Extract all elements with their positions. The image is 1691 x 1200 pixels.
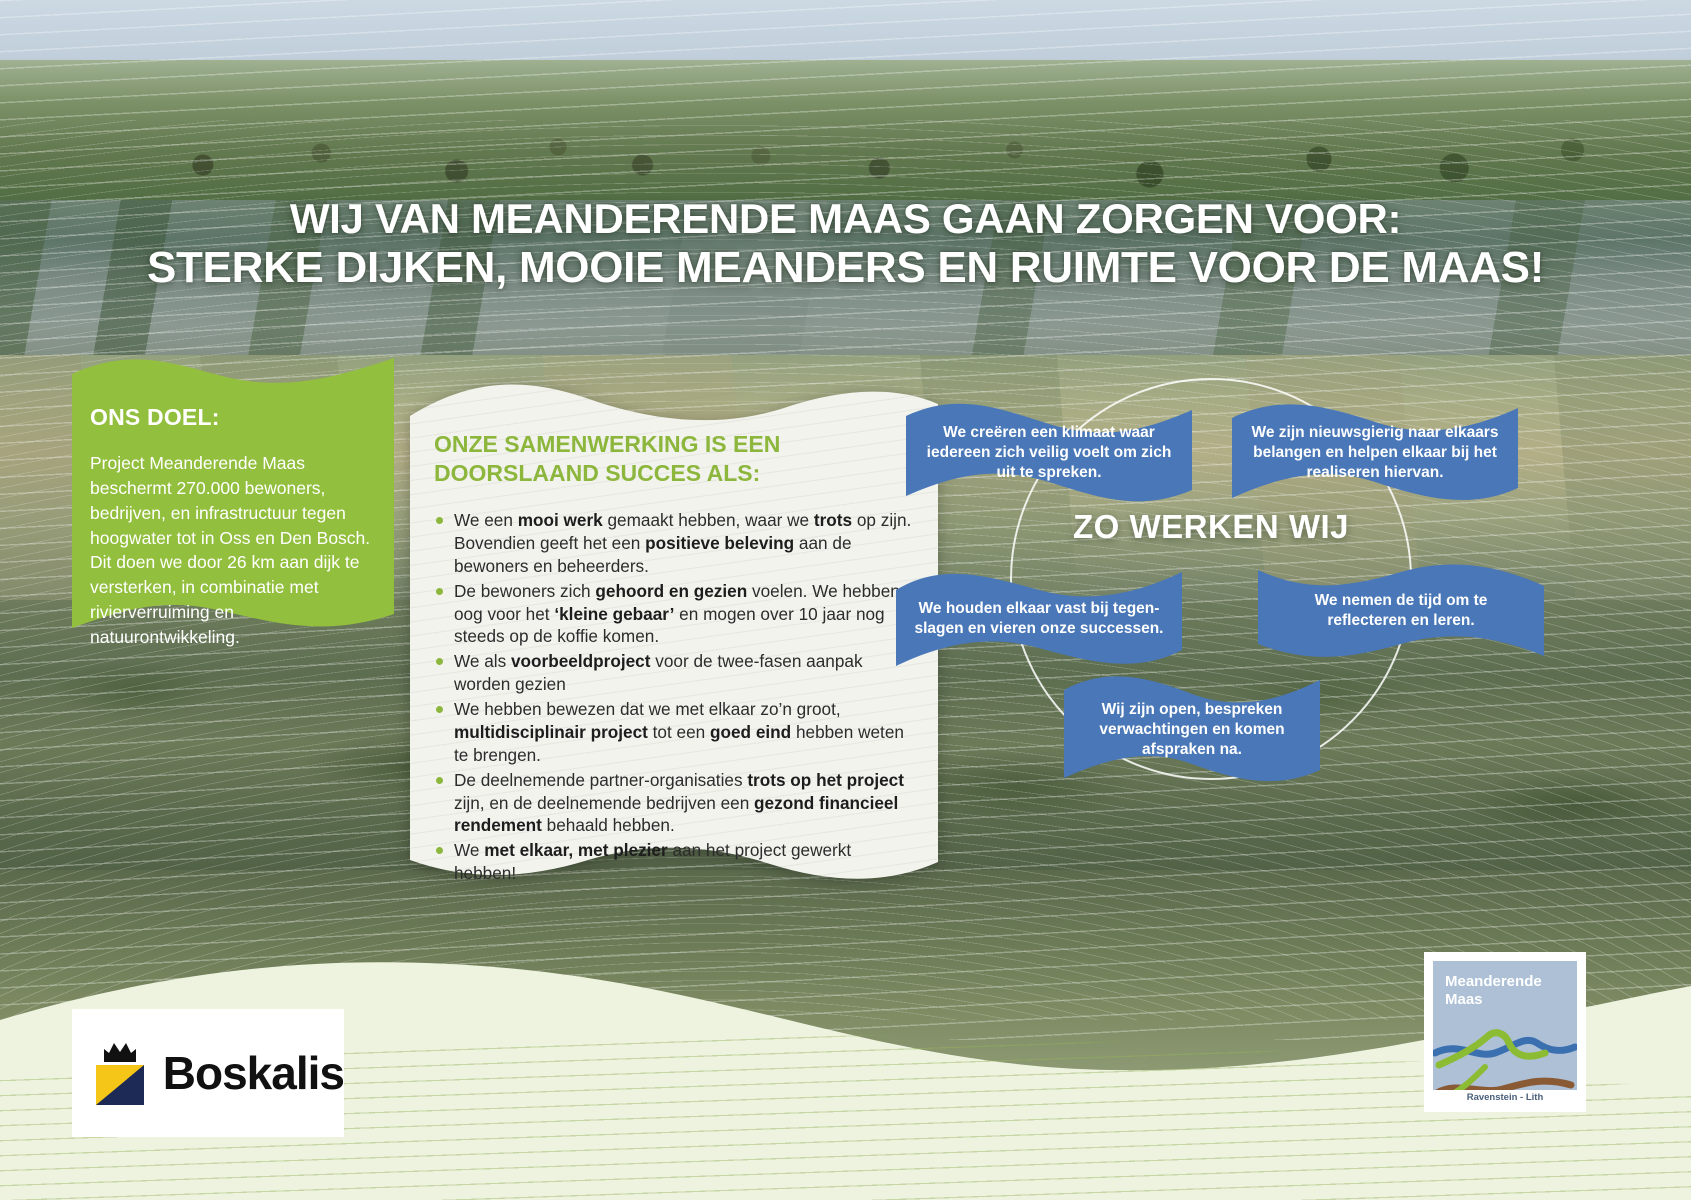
meanderende-maas-logo: Meanderende Maas Ravenstein - Lith — [1424, 952, 1586, 1112]
page-title: WIJ VAN MEANDERENDE MAAS GAAN ZORGEN VOO… — [0, 195, 1691, 293]
bullet-emphasis: positieve beleving — [645, 533, 794, 553]
bullet-emphasis: voorbeeldproject — [511, 651, 650, 671]
bullet-text: De deelnemende partner-organisaties — [454, 770, 747, 790]
collaboration-panel: ONZE SAMENWERKING IS EEN DOORSLAAND SUCC… — [404, 382, 944, 892]
banner-5-text: Wij zijn open, bespreken verwachtingen e… — [1064, 700, 1320, 760]
bullet-text: We — [454, 840, 484, 860]
bullet-text: We hebben bewezen dat we met elkaar zo’n… — [454, 699, 841, 719]
goal-title: ONS DOEL: — [90, 404, 372, 431]
crown-icon — [102, 1041, 138, 1063]
bullet-emphasis: goed eind — [710, 722, 791, 742]
boskalis-logo: Boskalis — [72, 1009, 344, 1137]
way-of-working-banner-2: We zijn nieuwsgierig naar elkaars belang… — [1232, 402, 1518, 504]
collaboration-title: ONZE SAMENWERKING IS EEN DOORSLAAND SUCC… — [434, 430, 914, 487]
meanderende-maas-wordmark: Meanderende Maas — [1445, 973, 1542, 1008]
collaboration-bullet-item: De bewoners zich gehoord en gezien voele… — [434, 580, 914, 649]
bullet-emphasis: mooi werk — [518, 510, 603, 530]
collaboration-bullet-item: We hebben bewezen dat we met elkaar zo’n… — [434, 698, 914, 767]
banner-2-text: We zijn nieuwsgierig naar elkaars belang… — [1232, 423, 1518, 483]
collaboration-bullet-item: We als voorbeeldproject voor de twee-fas… — [434, 650, 914, 696]
collaboration-title-line-2: DOORSLAAND SUCCES ALS: — [434, 460, 760, 486]
bullet-text: behaald hebben. — [542, 815, 675, 835]
meanderende-maas-subtitle: Ravenstein - Lith — [1433, 1090, 1577, 1103]
way-of-working-title: ZO WERKEN WIJ — [1010, 508, 1412, 546]
bullet-text: De bewoners zich — [454, 581, 595, 601]
collaboration-bullet-item: De deelnemende partner-organisaties trot… — [434, 769, 914, 838]
collaboration-bullet-item: We met elkaar, met plezier aan het proje… — [434, 839, 914, 885]
collaboration-panel-content: ONZE SAMENWERKING IS EEN DOORSLAAND SUCC… — [434, 430, 914, 887]
bullet-emphasis: met elkaar, met plezier — [484, 840, 667, 860]
goal-panel-content: ONS DOEL: Project Meanderende Maas besch… — [90, 404, 372, 650]
bullet-text: We een — [454, 510, 518, 530]
poster-canvas: WIJ VAN MEANDERENDE MAAS GAAN ZORGEN VOO… — [0, 0, 1691, 1200]
way-of-working-banner-3: We houden elkaar vast bij tegen-slagen e… — [896, 568, 1182, 670]
goal-body: Project Meanderende Maas beschermt 270.0… — [90, 451, 372, 650]
way-of-working-banner-5: Wij zijn open, bespreken verwachtingen e… — [1064, 672, 1320, 788]
way-of-working-banner-1: We creëren een klimaat waar iedereen zic… — [906, 402, 1192, 504]
banner-4-text: We nemen de tijd om te reflecteren en le… — [1258, 591, 1544, 631]
goal-panel: ONS DOEL: Project Meanderende Maas besch… — [72, 352, 394, 634]
bullet-emphasis: gehoord en gezien — [595, 581, 747, 601]
headline-line-2: STERKE DIJKEN, MOOIE MEANDERS EN RUIMTE … — [40, 243, 1651, 293]
meanderende-maas-logo-inner: Meanderende Maas Ravenstein - Lith — [1433, 961, 1577, 1103]
boskalis-shield-icon — [96, 1065, 144, 1105]
bullet-text: gemaakt hebben, waar we — [603, 510, 814, 530]
mm-line-1: Meanderende — [1445, 973, 1542, 990]
village-landscape-band — [0, 60, 1691, 210]
mm-line-2: Maas — [1445, 991, 1483, 1008]
boskalis-wordmark: Boskalis — [163, 1046, 344, 1100]
bullet-text: We als — [454, 651, 511, 671]
way-of-working-banner-4: We nemen de tijd om te reflecteren en le… — [1258, 560, 1544, 662]
bullet-emphasis: trots op het project — [747, 770, 904, 790]
bullet-emphasis: multidisciplinair project — [454, 722, 648, 742]
collaboration-bullet-list: We een mooi werk gemaakt hebben, waar we… — [434, 509, 914, 885]
bullet-text: zijn, en de deelnemende bedrijven een — [454, 793, 754, 813]
collaboration-title-line-1: ONZE SAMENWERKING IS EEN — [434, 431, 780, 457]
bullet-emphasis: ‘kleine gebaar’ — [554, 604, 674, 624]
bullet-text: tot een — [648, 722, 710, 742]
banner-1-text: We creëren een klimaat waar iedereen zic… — [906, 423, 1192, 483]
bullet-emphasis: trots — [814, 510, 852, 530]
collaboration-bullet-item: We een mooi werk gemaakt hebben, waar we… — [434, 509, 914, 578]
banner-3-text: We houden elkaar vast bij tegen-slagen e… — [896, 599, 1182, 639]
boskalis-mark — [92, 1041, 147, 1105]
headline-line-1: WIJ VAN MEANDERENDE MAAS GAAN ZORGEN VOO… — [290, 195, 1401, 242]
